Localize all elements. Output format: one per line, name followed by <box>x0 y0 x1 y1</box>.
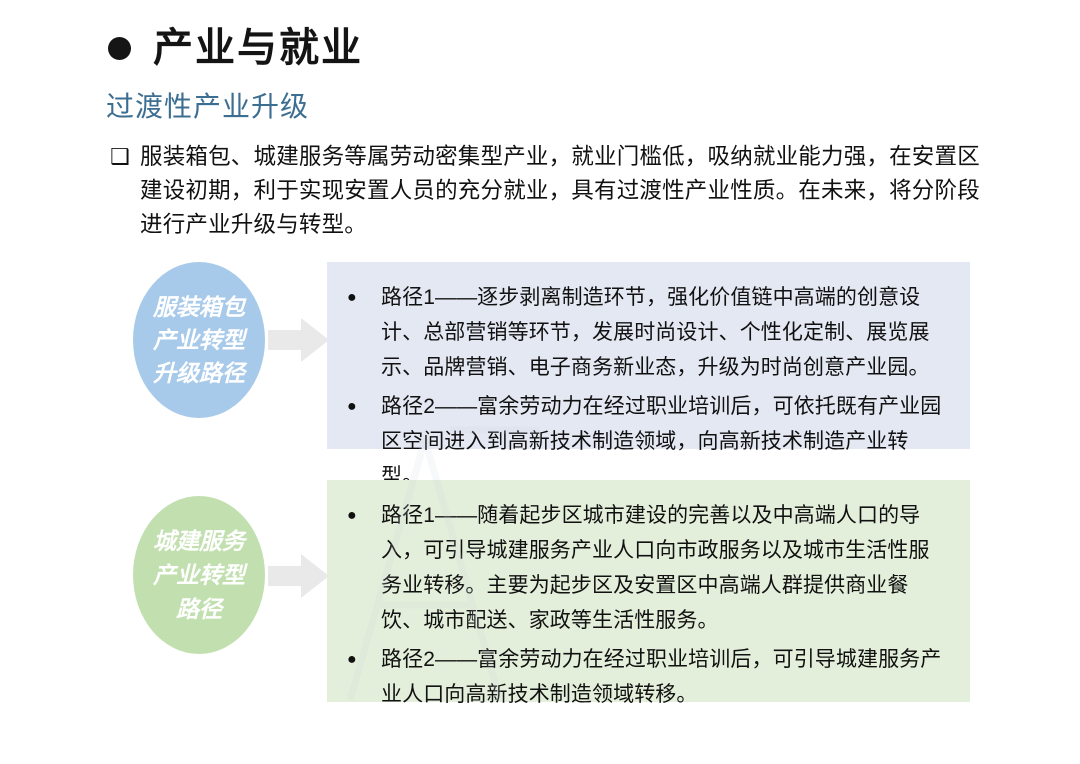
filled-circle-bullet-icon <box>108 37 131 60</box>
page-subtitle: 过渡性产业升级 <box>106 90 309 124</box>
right-arrow-icon <box>268 317 330 363</box>
hollow-square-bullet-icon: ❑ <box>110 140 140 173</box>
list-item-text: 路径2——富余劳动力在经过职业培训后，可引导城建服务产业人口向高新技术制造领域转… <box>381 642 950 712</box>
pathway-row-urban-services: 城建服务产业转型路径 ● 路径1——随着起步区城市建设的完善以及中高端人口的导入… <box>0 478 1080 704</box>
page-title-text: 产业与就业 <box>153 28 363 68</box>
list-item: ● 路径2——富余劳动力在经过职业培训后，可引导城建服务产业人口向高新技术制造领… <box>341 642 950 712</box>
bullet-dot-icon: ● <box>341 389 381 424</box>
page-title: 产业与就业 <box>108 28 363 68</box>
content-box-urban-services: ● 路径1——随着起步区城市建设的完善以及中高端人口的导入，可引导城建服务产业人… <box>327 480 970 702</box>
content-box-apparel: ● 路径1——逐步剥离制造环节，强化价值链中高端的创意设计、总部营销等环节，发展… <box>327 262 970 449</box>
list-item: ● 路径1——逐步剥离制造环节，强化价值链中高端的创意设计、总部营销等环节，发展… <box>341 280 950 385</box>
circle-label-urban-services: 城建服务产业转型路径 <box>133 496 265 654</box>
list-item: ● 路径1——随着起步区城市建设的完善以及中高端人口的导入，可引导城建服务产业人… <box>341 498 950 638</box>
lead-paragraph: ❑ 服装箱包、城建服务等属劳动密集型产业，就业门槛低，吸纳就业能力强，在安置区建… <box>110 140 990 242</box>
right-arrow-icon <box>268 553 330 599</box>
bullet-dot-icon: ● <box>341 280 381 315</box>
list-item-text: 路径1——随着起步区城市建设的完善以及中高端人口的导入，可引导城建服务产业人口向… <box>381 498 950 638</box>
bullet-dot-icon: ● <box>341 498 381 533</box>
lead-paragraph-text: 服装箱包、城建服务等属劳动密集型产业，就业门槛低，吸纳就业能力强，在安置区建设初… <box>140 140 990 242</box>
pathway-row-apparel: 服装箱包产业转型升级路径 ● 路径1——逐步剥离制造环节，强化价值链中高端的创意… <box>0 256 1080 448</box>
list-item-text: 路径1——逐步剥离制造环节，强化价值链中高端的创意设计、总部营销等环节，发展时尚… <box>381 280 950 385</box>
bullet-dot-icon: ● <box>341 642 381 677</box>
circle-label-apparel: 服装箱包产业转型升级路径 <box>133 262 265 418</box>
